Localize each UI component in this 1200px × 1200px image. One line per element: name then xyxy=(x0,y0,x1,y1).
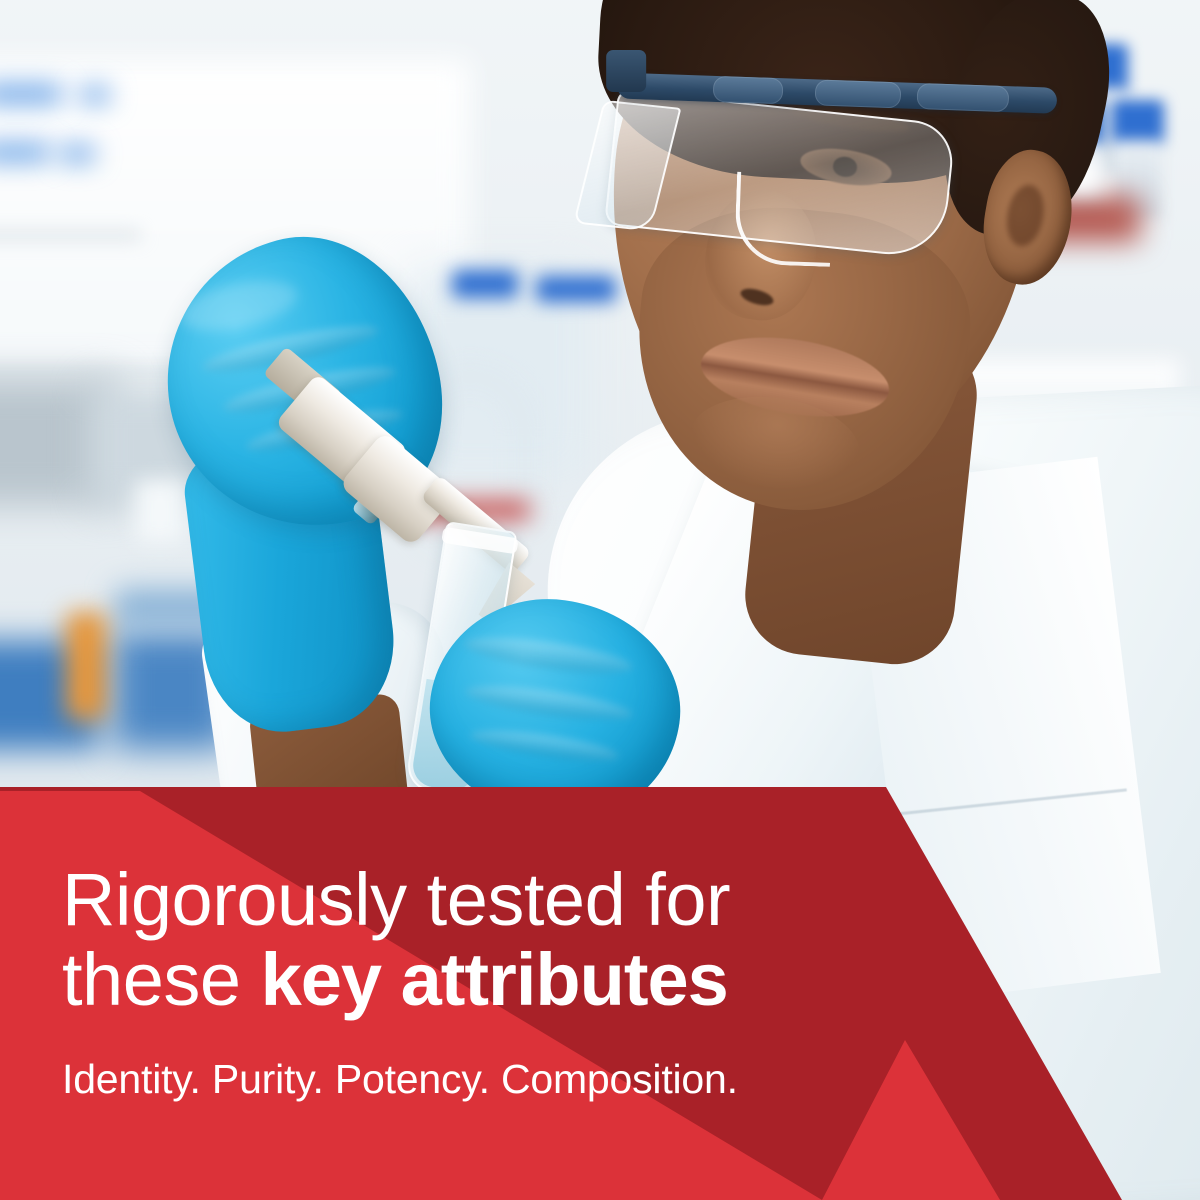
goggle-nose-bridge xyxy=(734,172,833,267)
promo-graphic: Rigorously tested for these key attribut… xyxy=(0,0,1200,1200)
headline-line-2-light: these xyxy=(62,938,261,1021)
banner-copy: Rigorously tested for these key attribut… xyxy=(62,862,942,1103)
headline-line-1: Rigorously tested for xyxy=(62,858,730,941)
headline: Rigorously tested for these key attribut… xyxy=(62,862,942,1018)
headline-line-2: these key attributes xyxy=(62,942,942,1018)
subhead: Identity. Purity. Potency. Composition. xyxy=(62,1056,942,1103)
goggle-hinge xyxy=(606,50,646,92)
headline-line-2-bold: key attributes xyxy=(261,938,728,1021)
